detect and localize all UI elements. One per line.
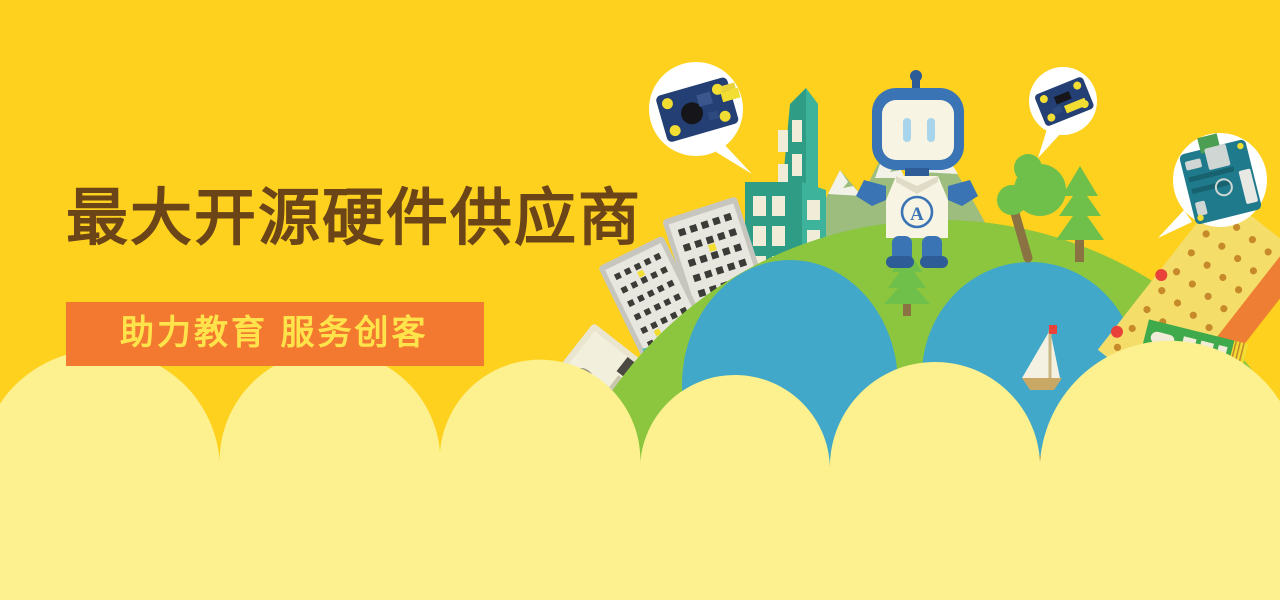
svg-text:A: A [910,204,924,225]
tagline-badge: 助力教育 服务创客 [66,302,484,366]
banner-copy: 最大开源硬件供应商 助力教育 服务创客 [66,180,666,366]
tagline-text: 助力教育 服务创客 [120,314,428,352]
page-title: 最大开源硬件供应商 [66,180,666,258]
promo-banner: A [0,0,1280,600]
